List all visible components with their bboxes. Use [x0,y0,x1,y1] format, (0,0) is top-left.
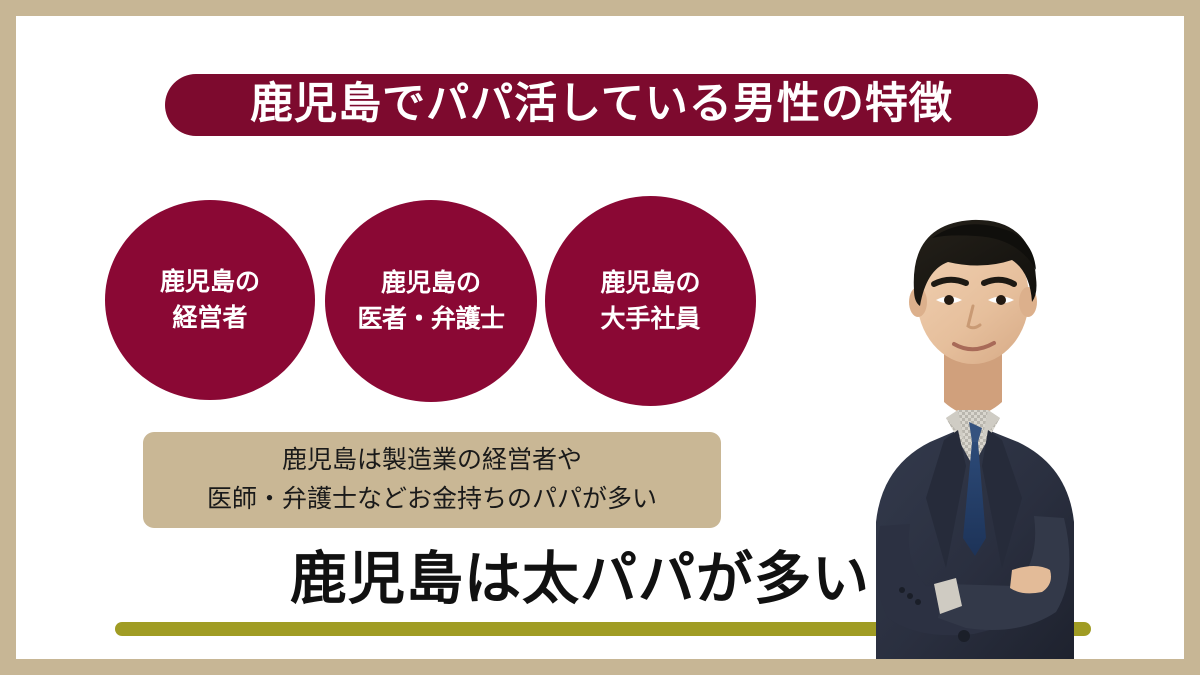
summary-note-box: 鹿児島は製造業の経営者や 医師・弁護士などお金持ちのパパが多い [143,432,721,528]
feature-circle-2-line1: 鹿児島の [381,265,481,301]
infographic-root: 鹿児島でパパ活している男性の特徴 鹿児島の 経営者 鹿児島の 医者・弁護士 鹿児… [0,0,1200,675]
feature-circle-2-line2: 医者・弁護士 [357,301,504,337]
businessman-photo [806,166,1184,659]
feature-circle-3-line1: 鹿児島の [600,265,700,301]
feature-circle-ote-shain: 鹿児島の 大手社員 [545,196,756,406]
infographic-canvas: 鹿児島でパパ活している男性の特徴 鹿児島の 経営者 鹿児島の 医者・弁護士 鹿児… [16,16,1184,659]
summary-note-line2: 医師・弁護士などお金持ちのパパが多い [207,480,657,519]
feature-circle-isha-bengoshi: 鹿児島の 医者・弁護士 [325,200,537,402]
feature-circle-1-line1: 鹿児島の [160,264,260,300]
bottom-headline-text: 鹿児島は太パパが多い [290,551,870,608]
title-banner: 鹿児島でパパ活している男性の特徴 [165,74,1038,136]
summary-note-line1: 鹿児島は製造業の経営者や [282,441,582,480]
feature-circle-keieisha: 鹿児島の 経営者 [105,200,315,400]
feature-circle-1-line2: 経営者 [172,300,247,336]
page-title: 鹿児島でパパ活している男性の特徴 [250,83,953,126]
feature-circle-3-line2: 大手社員 [600,301,700,337]
